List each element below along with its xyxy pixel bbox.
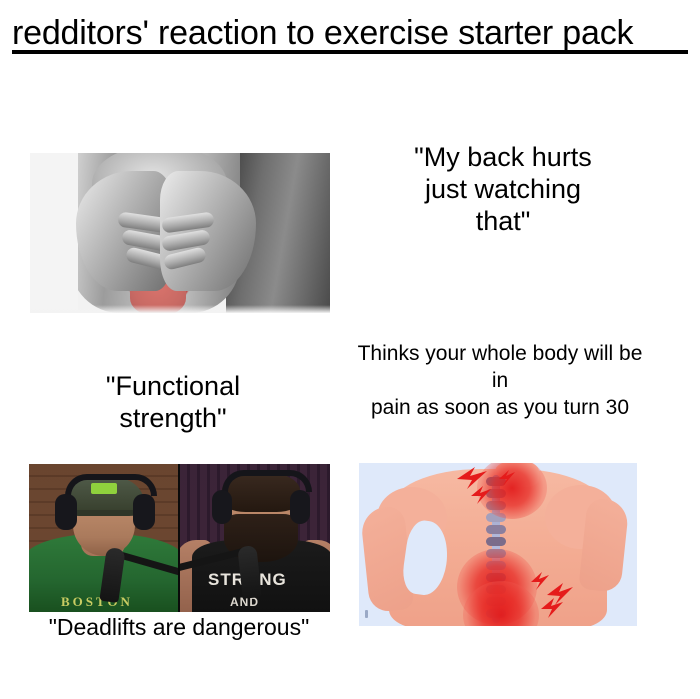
right-person-headphone-cup xyxy=(290,490,310,524)
back-pain-illustration xyxy=(359,463,637,626)
knee-hand-left xyxy=(76,171,172,291)
podcast-left-frame: BOSTON xyxy=(29,464,178,612)
knee-bg-white-left xyxy=(30,153,78,313)
caption-deadlifts-dangerous: "Deadlifts are dangerous" xyxy=(24,613,334,641)
knee-pain-image xyxy=(30,153,330,313)
caption-turn-30: Thinks your whole body will be in pain a… xyxy=(354,340,646,421)
left-person-headphone-cup xyxy=(55,494,77,530)
arm-right xyxy=(578,497,629,593)
caption-functional-strength: "Functional strength" xyxy=(38,370,308,434)
podcast-right-frame: STRONG AND xyxy=(178,464,330,612)
vertebra xyxy=(486,537,506,546)
left-person-headphone-band xyxy=(65,474,157,496)
illustration-marker xyxy=(365,610,368,618)
knee-bottom-fade xyxy=(30,305,330,313)
knee-hand-right xyxy=(160,171,256,291)
caption-back-hurts: "My back hurts just watching that" xyxy=(378,141,628,237)
podcast-image: BOSTON STRONG AND xyxy=(29,464,330,612)
left-person-headphone-cup xyxy=(133,494,155,530)
right-person-headphone-cup xyxy=(212,490,232,524)
vertebra xyxy=(486,525,506,534)
page-title: redditors' reaction to exercise starter … xyxy=(12,14,688,52)
right-person-headphone-band xyxy=(222,470,312,492)
meme-canvas: redditors' reaction to exercise starter … xyxy=(0,0,700,699)
knee-finger xyxy=(161,211,215,233)
left-person-shirt-text: BOSTON xyxy=(61,594,133,610)
title-underline xyxy=(12,50,688,54)
